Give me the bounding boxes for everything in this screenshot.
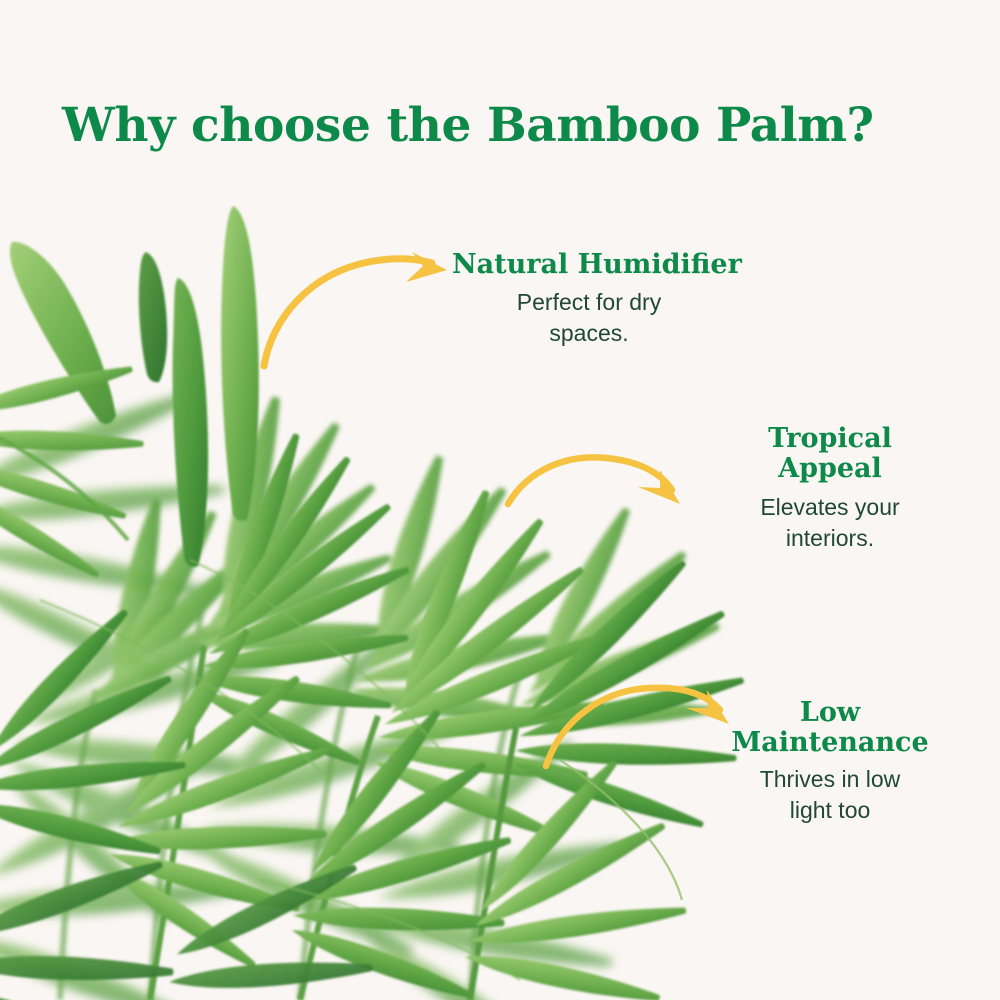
plant-mid-layer bbox=[60, 394, 723, 1000]
feature-natural-humidifier: Natural Humidifier Perfect for dry space… bbox=[452, 250, 782, 348]
plant-back-layer bbox=[0, 382, 625, 1000]
feature-title: Natural Humidifier bbox=[452, 250, 782, 280]
feature-tropical-appeal: Tropical Appeal Elevates your interiors. bbox=[690, 424, 970, 553]
feature-title: Tropical Appeal bbox=[690, 424, 970, 484]
page-title: Why choose the Bamboo Palm? bbox=[62, 98, 942, 153]
arrow-to-tropical-appeal bbox=[508, 457, 680, 504]
feature-description: Perfect for dry spaces. bbox=[452, 287, 782, 348]
feature-title: Low Maintenance bbox=[688, 698, 972, 758]
feature-description: Elevates your interiors. bbox=[690, 492, 970, 553]
arrow-to-natural-humidifier bbox=[264, 252, 447, 366]
feature-description: Thrives in low light too bbox=[688, 764, 972, 825]
feature-low-maintenance: Low Maintenance Thrives in low light too bbox=[688, 698, 972, 825]
product-feature-graphic: Why choose the Bamboo Palm? Natural Humi… bbox=[0, 0, 1000, 1000]
plant-whisker bbox=[560, 760, 682, 900]
